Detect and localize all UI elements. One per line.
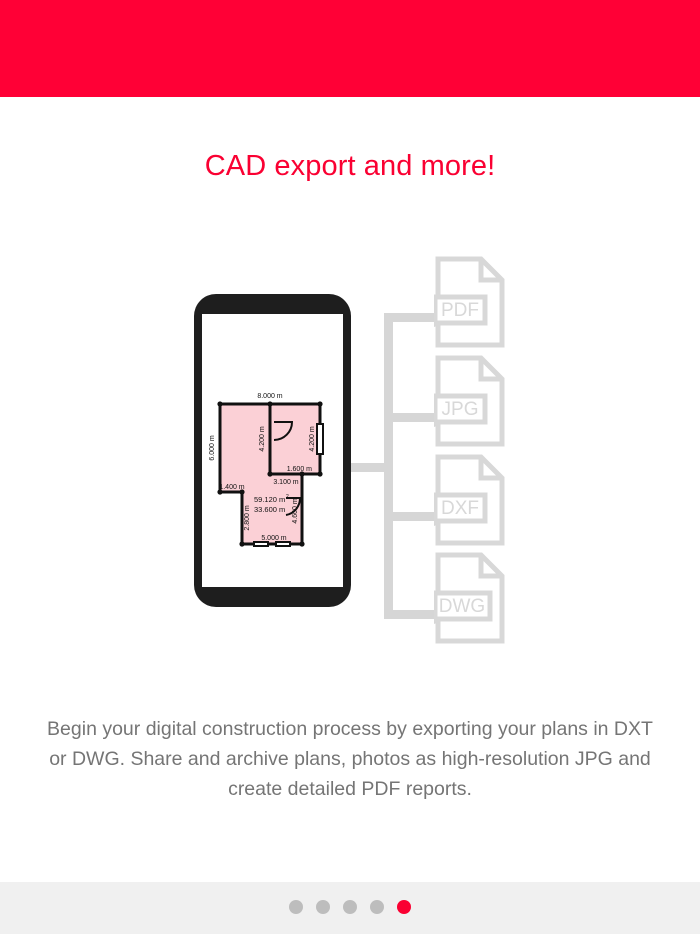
file-label: DWG: [439, 596, 485, 617]
pagination-dot-2[interactable]: [316, 900, 330, 914]
file-label: JPG: [442, 399, 479, 420]
pagination-dot-3[interactable]: [343, 900, 357, 914]
file-dwg-icon[interactable]: DWG: [434, 551, 506, 645]
dim-right-small: 1.600 m: [287, 466, 312, 473]
file-dxf-icon[interactable]: DXF: [434, 453, 506, 547]
onboarding-screen: CAD export and more!: [0, 0, 700, 934]
dim-right-lower: 4.600 m: [292, 498, 299, 523]
area-secondary: 33.600 m: [254, 505, 285, 514]
dim-left: 6.000 m: [209, 435, 216, 460]
dim-left-notch: 1.400 m: [219, 484, 244, 491]
area-primary: 59.120 m: [254, 495, 285, 504]
description-text: Begin your digital construction process …: [40, 714, 660, 804]
pagination-dot-5[interactable]: [397, 900, 411, 914]
dim-mid: 3.100 m: [273, 479, 298, 486]
dim-top: 8.000 m: [257, 393, 282, 400]
file-label: DXF: [441, 498, 479, 519]
pagination-dot-1[interactable]: [289, 900, 303, 914]
phone-screen: 8.000 m 6.000 m 4.200 m 4.200 m 1.600 m …: [202, 314, 343, 587]
file-pdf-icon[interactable]: PDF: [434, 255, 506, 349]
floorplan-drawing: 8.000 m 6.000 m 4.200 m 4.200 m 1.600 m …: [202, 314, 343, 587]
area-primary-superscript: 2: [286, 494, 289, 500]
dim-partition: 4.200 m: [259, 426, 266, 451]
file-jpg-icon[interactable]: JPG: [434, 354, 506, 448]
dim-bottom: 5.000 m: [261, 535, 286, 542]
pagination-dots[interactable]: [0, 900, 700, 914]
hero-illustration: PDF JPG DXF: [0, 230, 700, 660]
top-banner: [0, 0, 700, 97]
dim-left-lower: 2.800 m: [244, 505, 251, 530]
phone-mockup: 8.000 m 6.000 m 4.200 m 4.200 m 1.600 m …: [194, 294, 351, 607]
dim-right-upper: 4.200 m: [309, 426, 316, 451]
file-label: PDF: [441, 300, 479, 321]
page-title: CAD export and more!: [0, 150, 700, 183]
pagination-dot-4[interactable]: [370, 900, 384, 914]
